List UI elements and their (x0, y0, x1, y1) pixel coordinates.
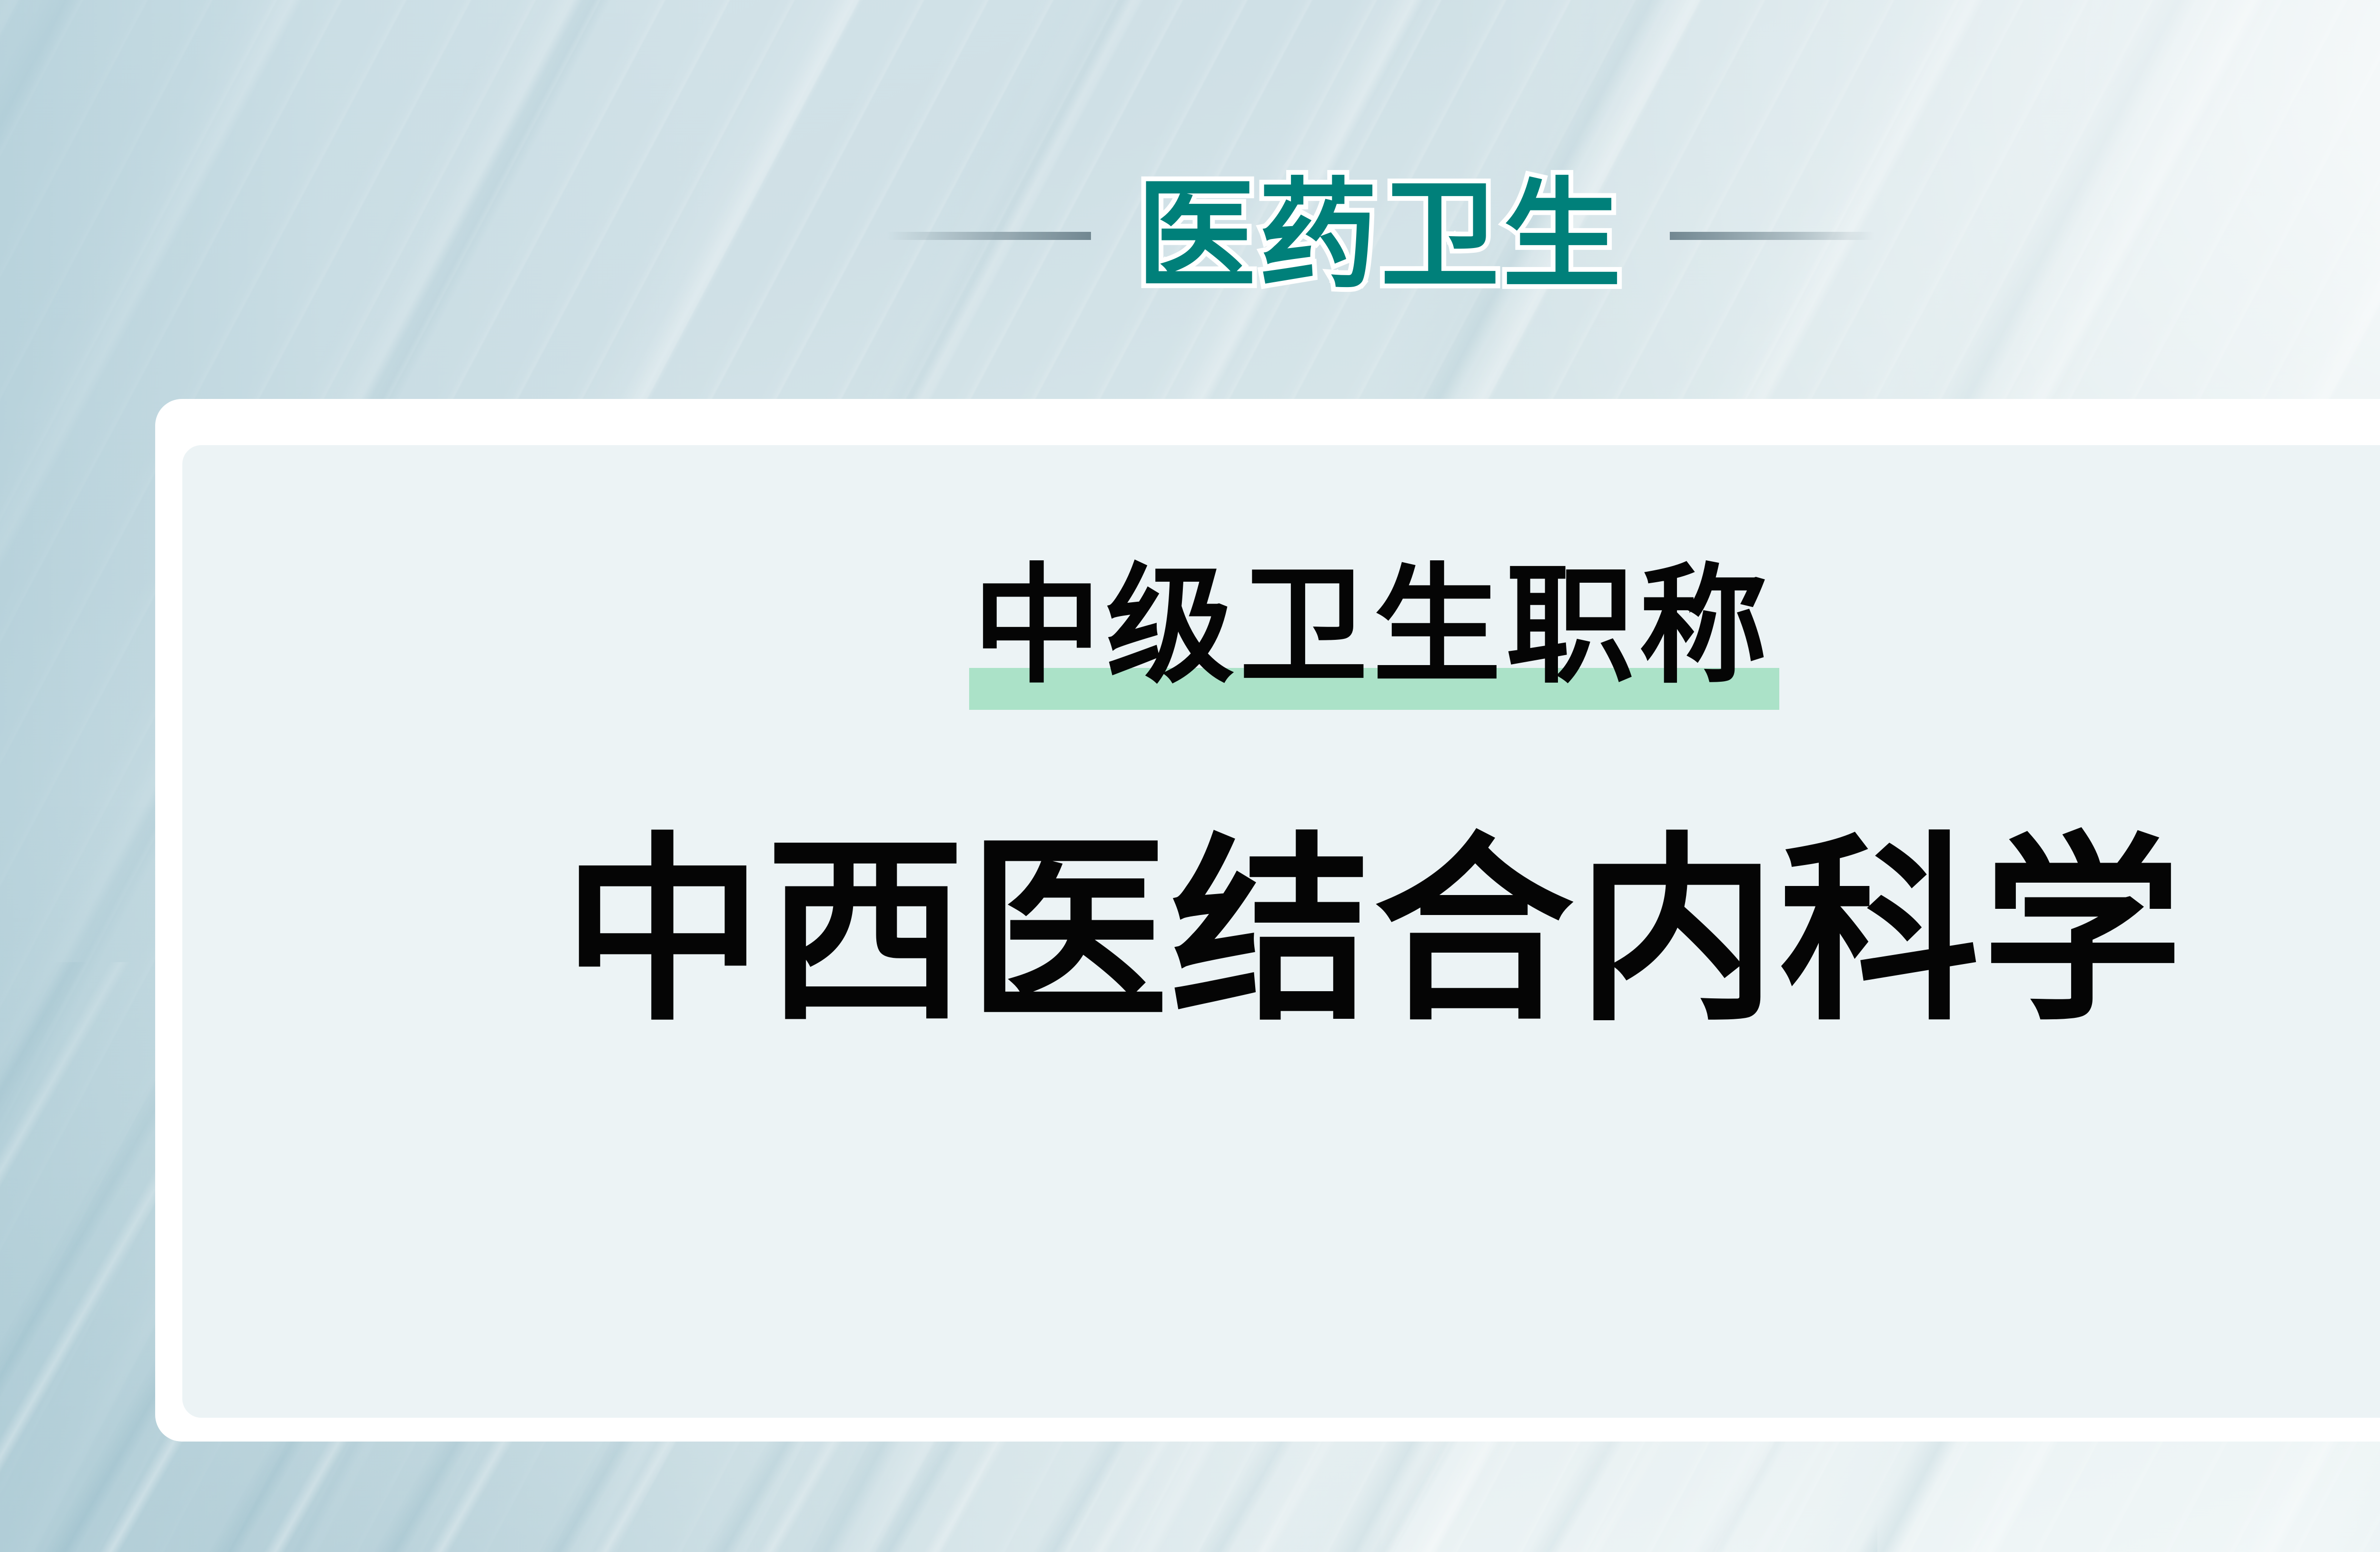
slide-canvas: 医药卫生 中级卫生职称 中西医结合内科学 (0, 0, 2380, 1552)
content-card: 中级卫生职称 中西医结合内科学 (155, 399, 2380, 1442)
content-card-panel: 中级卫生职称 中西医结合内科学 (182, 445, 2380, 1418)
category-title: 医药卫生 (1137, 176, 1624, 295)
header-band: 医药卫生 (0, 157, 2380, 314)
subtitle-text: 中级卫生职称 (973, 543, 1773, 710)
subtitle-group: 中级卫生职称 (969, 543, 1779, 710)
divider-line-left-icon (886, 232, 1091, 240)
main-title-text: 中西医结合内科学 (563, 807, 2185, 1057)
divider-line-right-icon (1670, 232, 1874, 240)
subtitle-row: 中级卫生职称 (182, 543, 2380, 710)
main-title-row: 中西医结合内科学 (182, 807, 2380, 1057)
